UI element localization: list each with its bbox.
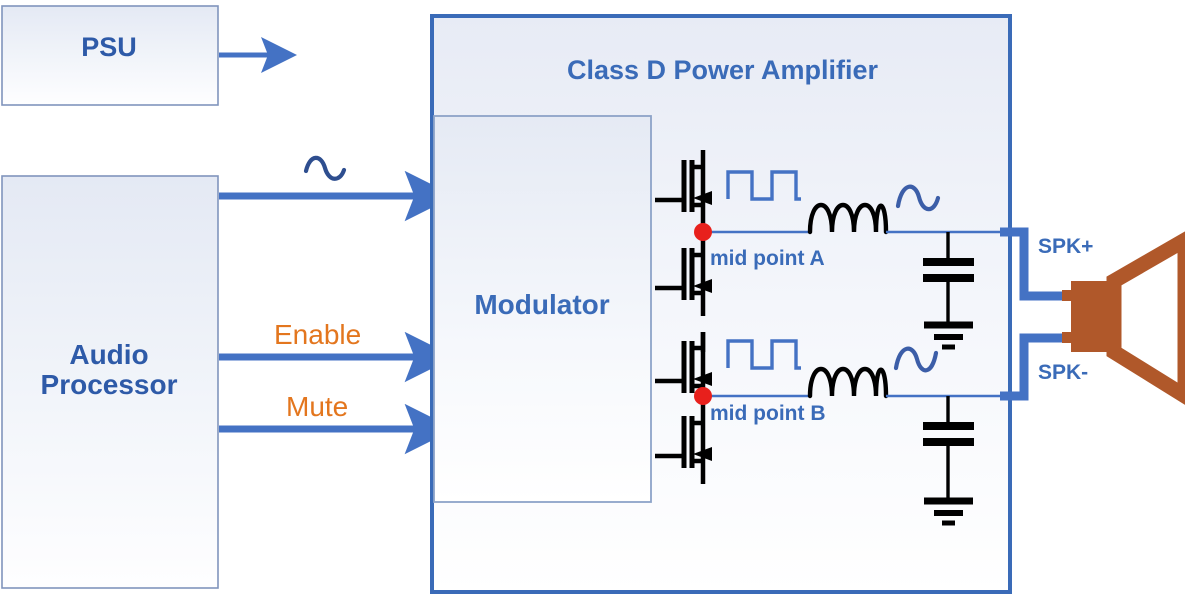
modulator-label: Modulator: [434, 290, 650, 320]
psu-label: PSU: [0, 33, 218, 62]
audio-processor-label-line2: Processor: [0, 370, 218, 400]
spk-minus-label: SPK-: [1038, 362, 1088, 385]
mid-point-b-label: mid point B: [710, 403, 825, 426]
enable-signal-label: Enable: [274, 320, 361, 350]
mute-signal-label: Mute: [286, 392, 348, 422]
mid-point-a-label: mid point A: [710, 248, 825, 271]
mid-point-a-node: [694, 223, 712, 241]
audio-processor-label: Audio Processor: [0, 340, 218, 400]
diagram-canvas: PSU Audio Processor Class D Power Amplif…: [0, 0, 1185, 596]
class-d-amplifier-title: Class D Power Amplifier: [435, 56, 1010, 85]
sine-wave-input-icon: [306, 158, 344, 179]
audio-processor-label-line1: Audio: [0, 340, 218, 370]
spk-plus-label: SPK+: [1038, 236, 1093, 259]
